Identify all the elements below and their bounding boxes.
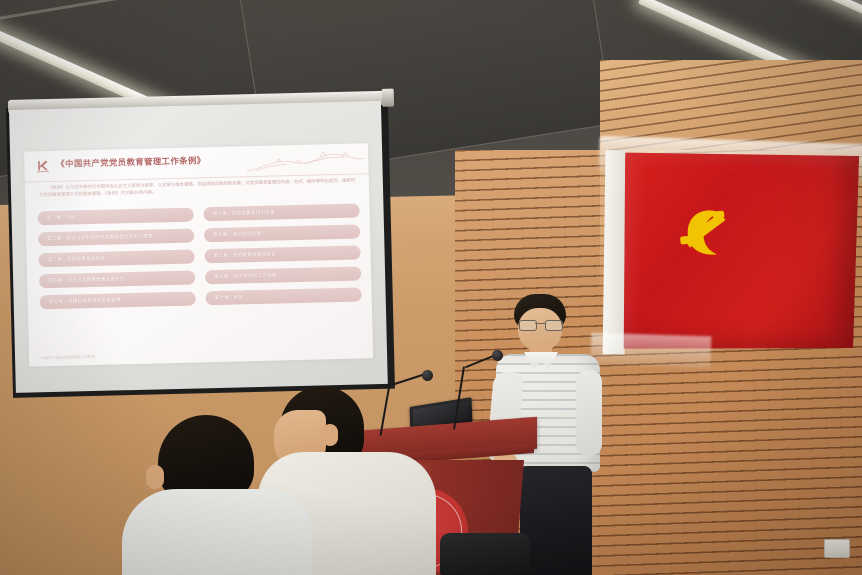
- slide-chapter-list: 第一章：总则 第六章：党员监督和组织处置 第二章：学习习近平新时代中国特色社会主…: [37, 203, 361, 309]
- party-flag: [601, 148, 859, 364]
- cpc-party-emblem-icon: [34, 157, 51, 174]
- chapter-label: 第五章：党籍和党员组织关系管理: [49, 297, 121, 305]
- eyeglass-bridge: [535, 323, 545, 324]
- chapter-label: 第三章：党员教育基本任务: [48, 256, 106, 263]
- chapter-item: 第二章：学习习近平新时代中国特色社会主义思想: [38, 229, 194, 247]
- chapter-item: 第九章：组织领导和工作保障: [205, 266, 361, 284]
- chapter-label: 第九章：组织领导和工作保障: [214, 273, 276, 281]
- audience-member-front-left: [128, 415, 288, 575]
- audience-torso: [122, 489, 312, 575]
- eyeglasses-icon: [518, 320, 562, 329]
- flag-plastic-wrap-bottom: [591, 333, 712, 369]
- slide-title: 《中国共产党党员教育管理工作条例》: [56, 154, 205, 170]
- chapter-item: 第五章：党籍和党员组织关系管理: [40, 291, 196, 309]
- hammer-and-sickle-icon: [674, 198, 748, 272]
- chapter-label: 第二章：学习习近平新时代中国特色社会主义思想: [47, 234, 153, 243]
- chapter-label: 第十章：附则: [215, 294, 244, 301]
- eyeglass-lens: [519, 320, 537, 331]
- flag-red-field: [619, 149, 859, 356]
- chapter-label: 第四章：党员日常教育管理主要方式: [48, 276, 125, 284]
- chapter-label: 第六章：党员监督和组织处置: [213, 210, 275, 218]
- projection-screen-surface: 《中国共产党党员教育管理工作条例》 《条例》以习近平新时代中国特色社会主义思想为…: [9, 101, 388, 393]
- chapter-item: 第七章：流动党员管理: [204, 224, 360, 242]
- wall-power-outlet: [824, 539, 850, 558]
- screen-housing-end-cap: [382, 89, 394, 107]
- chapter-item: 第三章：党员教育基本任务: [39, 250, 195, 268]
- slide-footer: 中国共产党党员教育管理工作条例: [41, 355, 95, 361]
- chapter-item: 第十章：附则: [205, 287, 361, 305]
- microphone-stem: [453, 366, 465, 430]
- chapter-item: 第八章：党员教育管理信息化: [204, 245, 360, 263]
- chapter-item: 第四章：党员日常教育管理主要方式: [39, 271, 195, 289]
- chapter-label: 第八章：党员教育管理信息化: [214, 252, 276, 260]
- black-chair: [440, 533, 530, 575]
- microphone-head: [422, 370, 433, 381]
- conference-room-scene: 《中国共产党党员教育管理工作条例》 《条例》以习近平新时代中国特色社会主义思想为…: [0, 0, 862, 575]
- chapter-label: 第一章：总则: [47, 214, 76, 221]
- chapter-item: 第六章：党员监督和组织处置: [203, 203, 359, 221]
- audience-ear: [322, 424, 338, 446]
- microphone-head: [492, 350, 503, 361]
- flag-hoist-band: [603, 150, 628, 354]
- great-wall-line-art-icon: [246, 146, 365, 175]
- audience-ear: [146, 465, 164, 489]
- eyeglass-lens: [545, 320, 563, 331]
- presentation-slide: 《中国共产党党员教育管理工作条例》 《条例》以习近平新时代中国特色社会主义思想为…: [24, 143, 373, 366]
- presenter-right-arm: [576, 370, 602, 456]
- gooseneck-microphone: [452, 352, 508, 428]
- chapter-label: 第七章：流动党员管理: [213, 231, 261, 238]
- chapter-item: 第一章：总则: [37, 208, 193, 226]
